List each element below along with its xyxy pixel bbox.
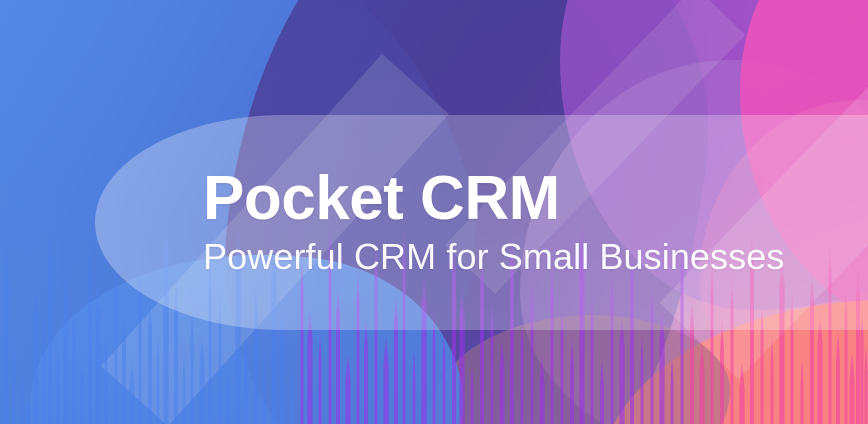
banner-text-block: Pocket CRM Powerful CRM for Small Busine… — [203, 115, 868, 330]
decorative-blob-mauve — [430, 315, 730, 424]
page-subtitle: Powerful CRM for Small Businesses — [203, 236, 868, 277]
hero-banner: Pocket CRM Powerful CRM for Small Busine… — [0, 0, 868, 424]
page-title: Pocket CRM — [203, 167, 868, 230]
